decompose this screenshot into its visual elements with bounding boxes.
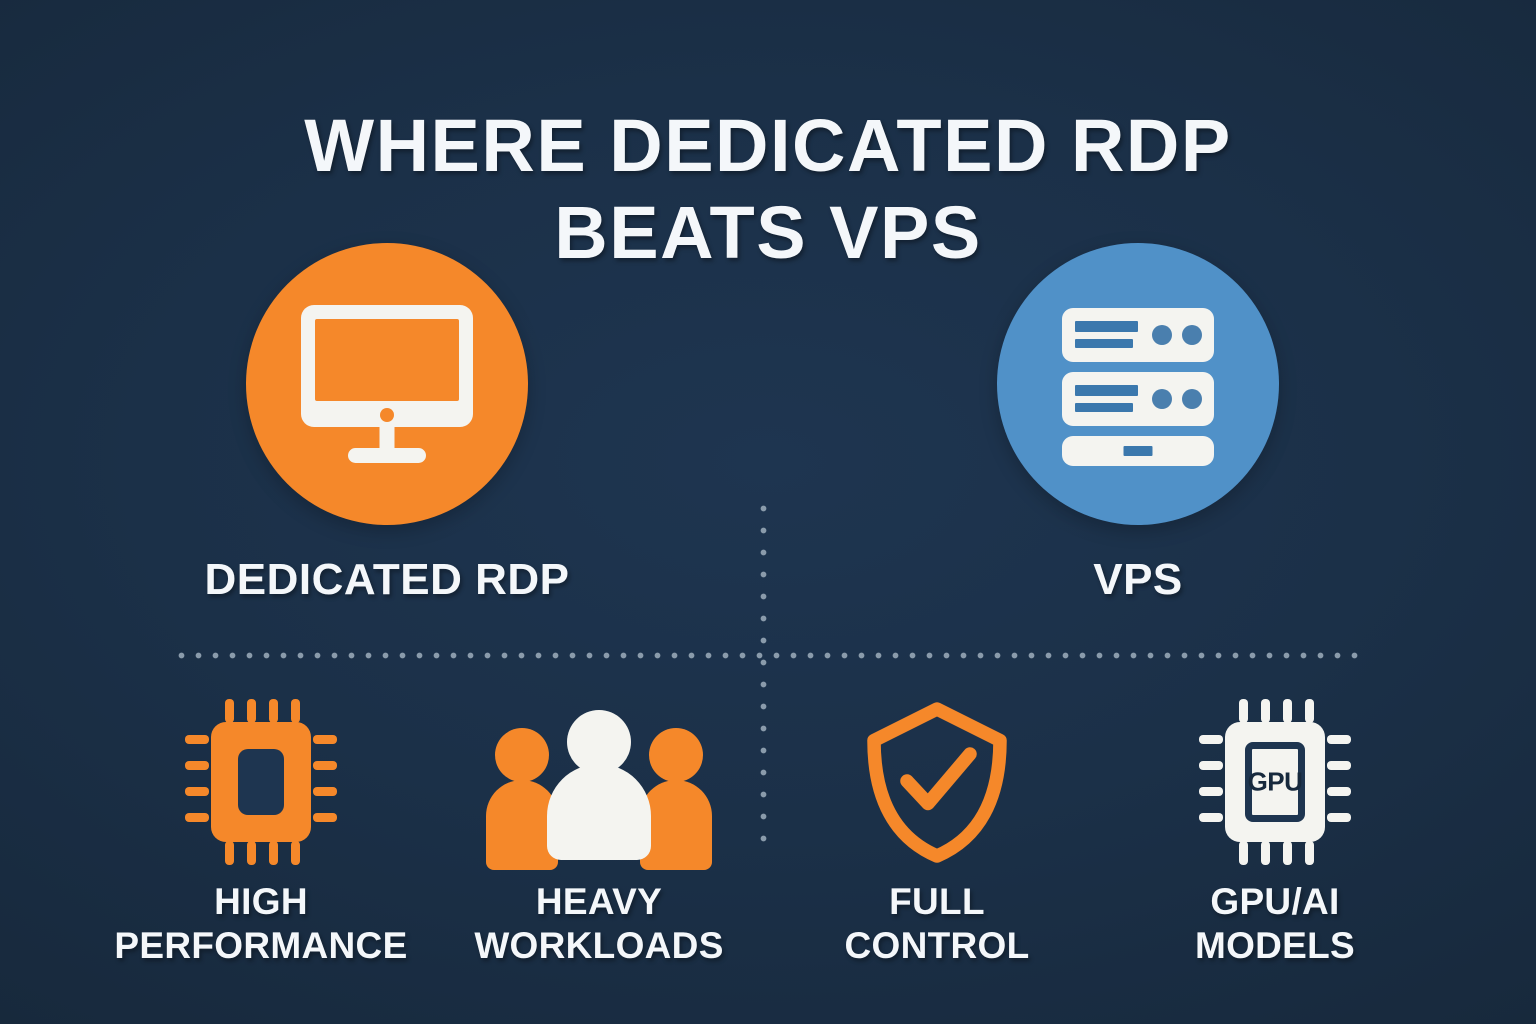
feature-icon-slot: GPU [1110,696,1440,868]
chip-pin [185,735,209,744]
chip-gpu-text: GPU [1248,767,1303,798]
feature-label-line-1: HEAVY [434,880,764,924]
feature-label-gpu-ai-models: GPU/AI MODELS [1110,880,1440,967]
comparison-section: DEDICATED RDP [0,243,1536,623]
person-left-head [495,728,549,782]
feature-label-line-1: HIGH [96,880,426,924]
feature-icon-slot [434,696,764,868]
feature-full-control: FULL CONTROL [772,696,1102,967]
server-bar-short [1075,339,1133,348]
server-unit-top [1062,308,1214,362]
chip-pin [185,761,209,770]
chip-pin [225,841,234,865]
feature-label-line-2: WORKLOADS [434,924,764,968]
cpu-chip-icon [172,699,350,865]
feature-label-heavy-workloads: HEAVY WORKLOADS [434,880,764,967]
shield-check-icon [862,700,1012,865]
server-led-one [1152,325,1172,345]
server-led-two [1182,325,1202,345]
chip-pin [1261,841,1270,865]
chip-pin [1239,699,1248,723]
chip-pin [269,841,278,865]
feature-icon-slot [772,696,1102,868]
server-bar-long [1075,321,1138,332]
feature-icon-slot [96,696,426,868]
chip-pin [1305,699,1314,723]
features-row: HIGH PERFORMANCE HEAVY WORKLOADS [96,696,1440,967]
chip-pin [1327,735,1351,744]
title-line-1: WHERE DEDICATED RDP [0,102,1536,189]
feature-label-line-2: PERFORMANCE [96,924,426,968]
desktop-monitor-icon [301,305,473,463]
feature-label-line-1: GPU/AI [1110,880,1440,924]
dedicated-rdp-disc [246,243,528,525]
server-unit-bottom [1062,436,1214,466]
feature-label-line-2: MODELS [1110,924,1440,968]
comparison-item-dedicated-rdp: DEDICATED RDP [177,243,597,605]
chip-pin [313,787,337,796]
feature-gpu-ai-models: GPU GPU/AI MODELS [1110,696,1440,967]
chip-pin [1199,787,1223,796]
chip-pin [247,699,256,723]
chip-body: GPU [1225,722,1325,842]
person-right-head [649,728,703,782]
server-unit-middle [1062,372,1214,426]
chip-pin [225,699,234,723]
feature-label-full-control: FULL CONTROL [772,880,1102,967]
feature-label-line-1: FULL [772,880,1102,924]
server-bar-short [1075,403,1133,412]
chip-pin [1327,787,1351,796]
infographic-canvas: WHERE DEDICATED RDP BEATS VPS DEDICATED … [0,0,1536,1024]
chip-pin [1261,699,1270,723]
horizontal-dotted-divider [178,652,1358,659]
chip-core [238,749,284,815]
chip-pin [313,735,337,744]
person-center-body [547,764,651,860]
dedicated-rdp-label: DEDICATED RDP [177,555,597,605]
people-group-icon [493,702,705,862]
feature-high-performance: HIGH PERFORMANCE [96,696,426,967]
vps-label: VPS [928,555,1348,605]
chip-pin [291,841,300,865]
monitor-screen-inner [315,319,459,401]
chip-pin [185,787,209,796]
chip-pin [1199,735,1223,744]
chip-pin [185,813,209,822]
chip-pin [1199,813,1223,822]
chip-pin [291,699,300,723]
chip-pin [1283,699,1292,723]
chip-pin [1239,841,1248,865]
chip-pin [313,761,337,770]
chip-pin [269,699,278,723]
chip-pin [313,813,337,822]
vps-disc [997,243,1279,525]
chip-pin [1283,841,1292,865]
feature-heavy-workloads: HEAVY WORKLOADS [434,696,764,967]
server-stack-icon [1062,308,1214,460]
server-bar-tiny [1124,446,1153,456]
feature-label-line-2: CONTROL [772,924,1102,968]
chip-body [211,722,311,842]
monitor-indicator-dot [380,408,394,422]
chip-pin [1199,761,1223,770]
server-led-one [1152,389,1172,409]
server-led-two [1182,389,1202,409]
chip-pin [1305,841,1314,865]
check-mark [907,754,970,804]
chip-pin [1327,813,1351,822]
chip-pin [1327,761,1351,770]
monitor-stand-base [348,448,426,463]
chip-pin [247,841,256,865]
feature-label-high-performance: HIGH PERFORMANCE [96,880,426,967]
gpu-chip-icon: GPU [1186,699,1364,865]
server-bar-long [1075,385,1138,396]
comparison-item-vps: VPS [928,243,1348,605]
